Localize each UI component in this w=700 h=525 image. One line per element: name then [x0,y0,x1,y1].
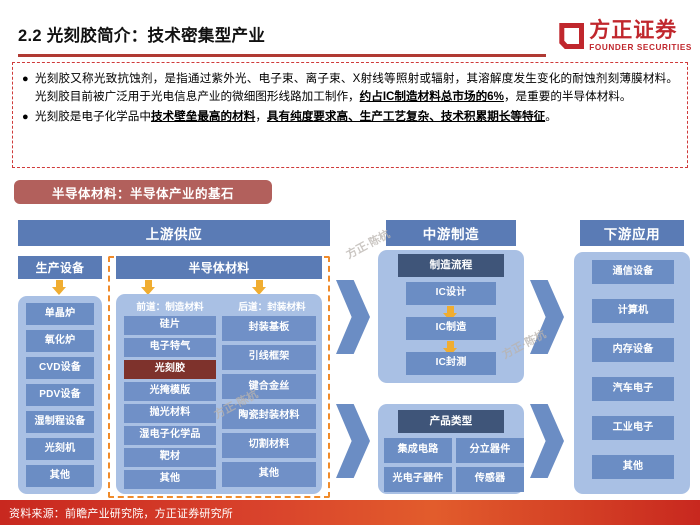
emphasis-text: 约占IC制造材料总市场的6% [360,90,504,103]
front-material-item-7[interactable]: 其他 [124,470,216,489]
body-text: ， [255,110,267,123]
equipment-item-1[interactable]: 氧化炉 [26,330,94,352]
slide-header: 2.2 光刻胶简介：技术密集型产业 方正证券 FOUNDER SECURITIE… [0,0,700,58]
back-material-item-0[interactable]: 封装基板 [222,316,316,341]
equipment-item-4[interactable]: 湿制程设备 [26,411,94,433]
title-divider [18,54,546,57]
down-arrow-front-icon [141,280,156,295]
product-item-0[interactable]: 集成电路 [384,438,452,463]
equipment-item-5[interactable]: 光刻机 [26,438,94,460]
source-note: 资料来源：前瞻产业研究院，方正证券研究所 [0,505,233,521]
back-material-item-4[interactable]: 切割材料 [222,433,316,458]
downstream-item-3[interactable]: 汽车电子 [592,377,674,401]
front-material-item-1[interactable]: 电子特气 [124,338,216,357]
bullet-marker-icon: ● [22,70,35,88]
front-material-item-4[interactable]: 抛光材料 [124,404,216,423]
products-label: 产品类型 [398,410,504,433]
founder-logo-icon [559,23,584,49]
back-material-item-5[interactable]: 其他 [222,462,316,487]
down-arrow-equipment-icon [52,280,67,295]
process-label: 制造流程 [398,254,504,277]
bullet-text: 光刻胶又称光致抗蚀剂，是指通过紫外光、电子束、离子束、X射线等照射或辐射，其溶解… [35,70,678,107]
body-text: 光刻胶是电子化学品中 [35,110,151,123]
front-material-item-3[interactable]: 光掩模版 [124,382,216,401]
downstream-item-5[interactable]: 其他 [592,455,674,479]
bullet-item: ●光刻胶又称光致抗蚀剂，是指通过紫外光、电子束、离子束、X射线等照射或辐射，其溶… [22,70,678,107]
column-header-upstream: 上游供应 [18,220,330,246]
chevron-midstream-to-downstream-top [530,280,564,354]
company-logo: 方正证券 FOUNDER SECURITIES [559,16,692,56]
summary-callout-box: ●光刻胶又称光致抗蚀剂，是指通过紫外光、电子束、离子束、X射线等照射或辐射，其溶… [12,62,688,168]
logo-name-en: FOUNDER SECURITIES [589,44,692,52]
equipment-item-2[interactable]: CVD设备 [26,357,94,379]
logo-text: 方正证券 FOUNDER SECURITIES [589,20,692,52]
chevron-midstream-to-downstream-bottom [530,404,564,478]
process-step-0[interactable]: IC设计 [406,282,496,305]
back-material-item-3[interactable]: 陶瓷封装材料 [222,404,316,429]
down-arrow-back-icon [252,280,267,295]
value-chain-diagram: 上游供应生产设备单晶炉氧化炉CVD设备PDV设备湿制程设备光刻机其他半导体材料前… [0,208,700,500]
bullet-text: 光刻胶是电子化学品中技术壁垒最高的材料，具有纯度要求高、生产工艺复杂、技术积累期… [35,108,557,126]
chevron-upstream-to-midstream-bottom [336,404,370,478]
equipment-item-0[interactable]: 单晶炉 [26,303,94,325]
group-label-front: 前道：制造材料 [122,298,218,314]
bullet-item: ●光刻胶是电子化学品中技术壁垒最高的材料，具有纯度要求高、生产工艺复杂、技术积累… [22,108,678,126]
column-header-midstream: 中游制造 [386,220,516,246]
section-header-pill: 半导体材料：半导体产业的基石 [14,180,272,204]
page-title: 2.2 光刻胶简介：技术密集型产业 [18,22,265,46]
group-label-back: 后道：封装材料 [224,298,320,314]
front-material-item-5[interactable]: 湿电子化学品 [124,426,216,445]
chevron-upstream-to-midstream-top [336,280,370,354]
process-step-1[interactable]: IC制造 [406,317,496,340]
front-material-item-2[interactable]: 光刻胶 [124,360,216,379]
downstream-item-4[interactable]: 工业电子 [592,416,674,440]
front-material-item-6[interactable]: 靶材 [124,448,216,467]
downstream-item-0[interactable]: 通信设备 [592,260,674,284]
back-material-item-1[interactable]: 引线框架 [222,345,316,370]
downstream-item-1[interactable]: 计算机 [592,299,674,323]
emphasis-text: 具有纯度要求高、生产工艺复杂、技术积累期长等特征 [267,110,545,123]
product-item-1[interactable]: 分立器件 [456,438,524,463]
back-material-item-2[interactable]: 键合金丝 [222,374,316,399]
process-step-2[interactable]: IC封测 [406,352,496,375]
bullet-marker-icon: ● [22,108,35,126]
equipment-item-6[interactable]: 其他 [26,465,94,487]
column-header-downstream: 下游应用 [580,220,684,246]
body-text: ，是重要的半导体材料。 [504,90,632,103]
sub-header-materials: 半导体材料 [116,256,322,279]
equipment-item-3[interactable]: PDV设备 [26,384,94,406]
product-item-3[interactable]: 传感器 [456,467,524,492]
footer-bar: 资料来源：前瞻产业研究院，方正证券研究所 [0,500,700,525]
downstream-item-2[interactable]: 内存设备 [592,338,674,362]
logo-name-cn: 方正证券 [589,20,692,41]
product-item-2[interactable]: 光电子器件 [384,467,452,492]
emphasis-text: 技术壁垒最高的材料 [151,110,255,123]
front-material-item-0[interactable]: 硅片 [124,316,216,335]
body-text: 。 [545,110,557,123]
sub-header-equipment: 生产设备 [18,256,102,279]
